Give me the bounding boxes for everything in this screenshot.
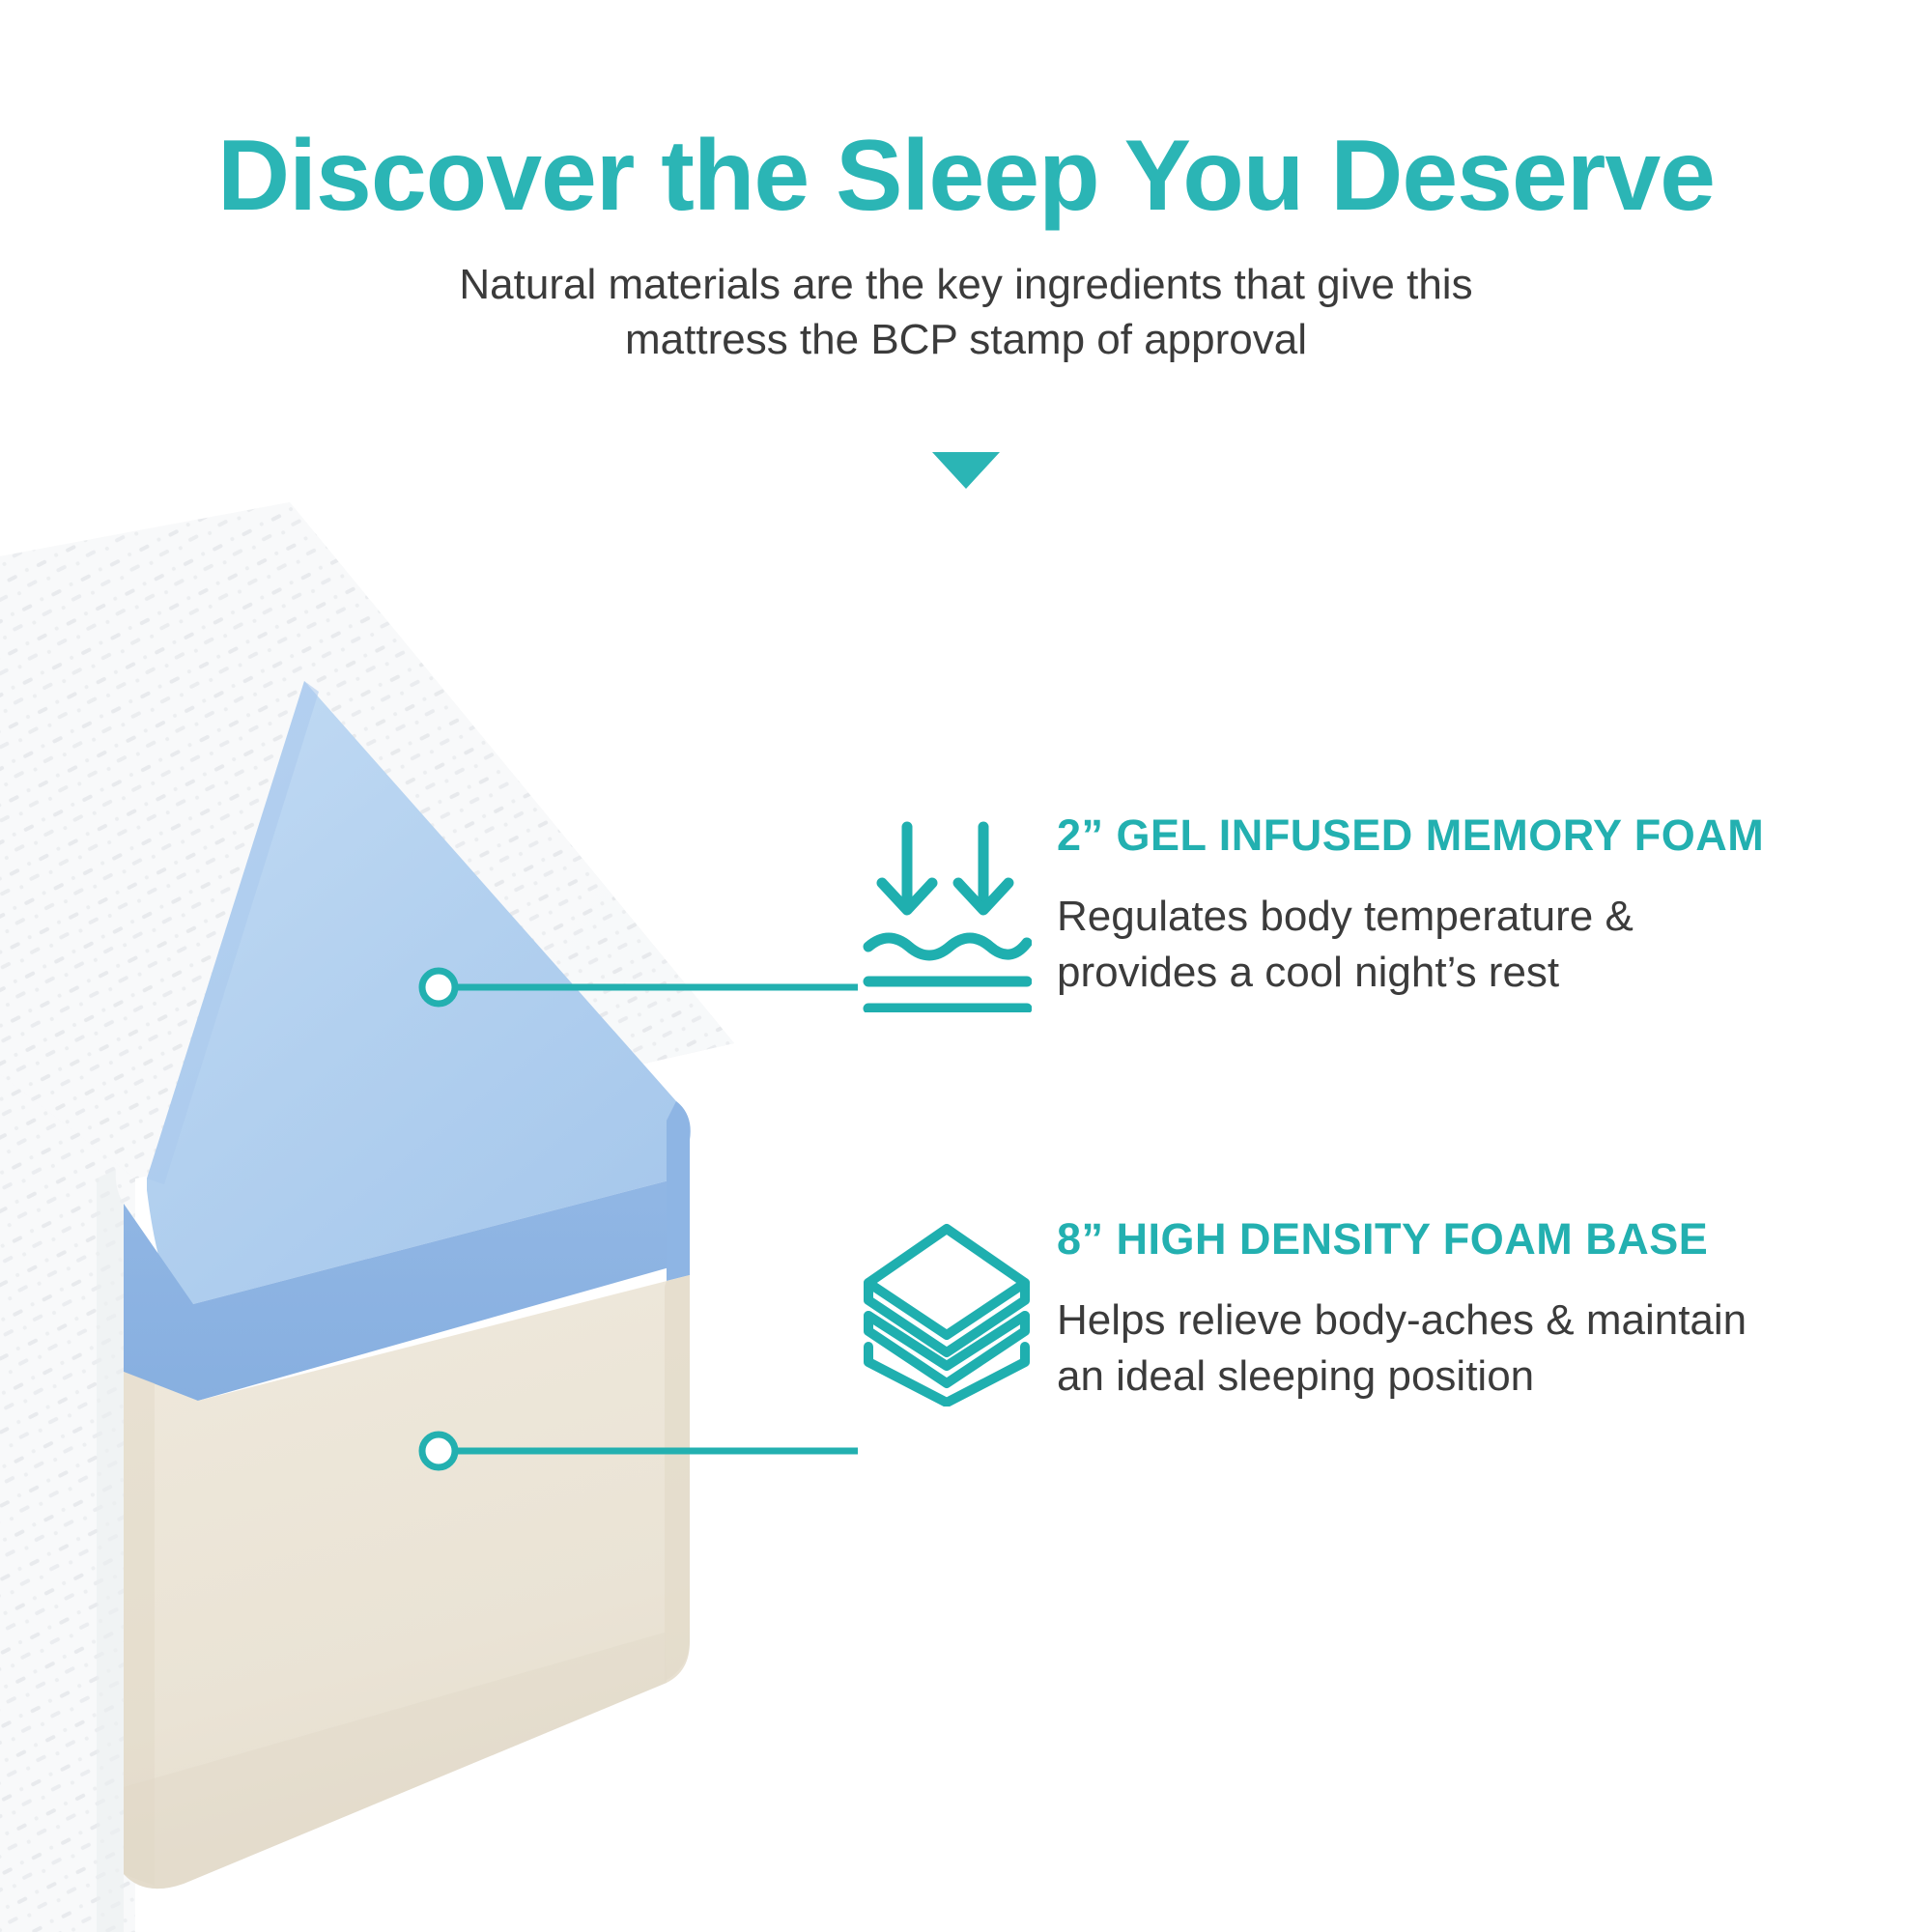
feature-heading: 8” HIGH DENSITY FOAM BASE bbox=[1057, 1215, 1932, 1264]
mattress-cutaway-illustration bbox=[0, 502, 869, 1932]
page-subtitle: Natural materials are the key ingredient… bbox=[425, 229, 1507, 367]
stacked-layers-icon bbox=[850, 1215, 1043, 1426]
feature-description-line-1: Helps relieve body-aches & maintain bbox=[1057, 1293, 1932, 1349]
feature-description: Regulates body temperature & provides a … bbox=[1057, 860, 1932, 1001]
page-title: Discover the Sleep You Deserve bbox=[0, 0, 1932, 229]
subtitle-line-2: mattress the BCP stamp of approval bbox=[425, 313, 1507, 367]
feature-list: 2” GEL INFUSED MEMORY FOAM Regulates bod… bbox=[850, 811, 1932, 1619]
feature-heading: 2” GEL INFUSED MEMORY FOAM bbox=[1057, 811, 1932, 860]
feature-text-block: 2” GEL INFUSED MEMORY FOAM Regulates bod… bbox=[1043, 811, 1932, 1001]
feature-description-line-1: Regulates body temperature & bbox=[1057, 889, 1932, 945]
feature-description: Helps relieve body-aches & maintain an i… bbox=[1057, 1264, 1932, 1405]
connector-gel-foam bbox=[415, 966, 860, 1009]
feature-item-high-density-foam-base: 8” HIGH DENSITY FOAM BASE Helps relieve … bbox=[850, 1215, 1932, 1426]
header: Discover the Sleep You Deserve Natural m… bbox=[0, 0, 1932, 367]
subtitle-line-1: Natural materials are the key ingredient… bbox=[425, 258, 1507, 312]
feature-description-line-2: an ideal sleeping position bbox=[1057, 1349, 1932, 1405]
feature-item-gel-memory-foam: 2” GEL INFUSED MEMORY FOAM Regulates bod… bbox=[850, 811, 1932, 1022]
arrows-down-onto-waves-icon bbox=[850, 811, 1043, 1022]
feature-text-block: 8” HIGH DENSITY FOAM BASE Helps relieve … bbox=[1043, 1215, 1932, 1405]
triangle-down-icon bbox=[932, 452, 1000, 489]
connector-foam-base bbox=[415, 1430, 860, 1472]
feature-description-line-2: provides a cool night’s rest bbox=[1057, 945, 1932, 1001]
